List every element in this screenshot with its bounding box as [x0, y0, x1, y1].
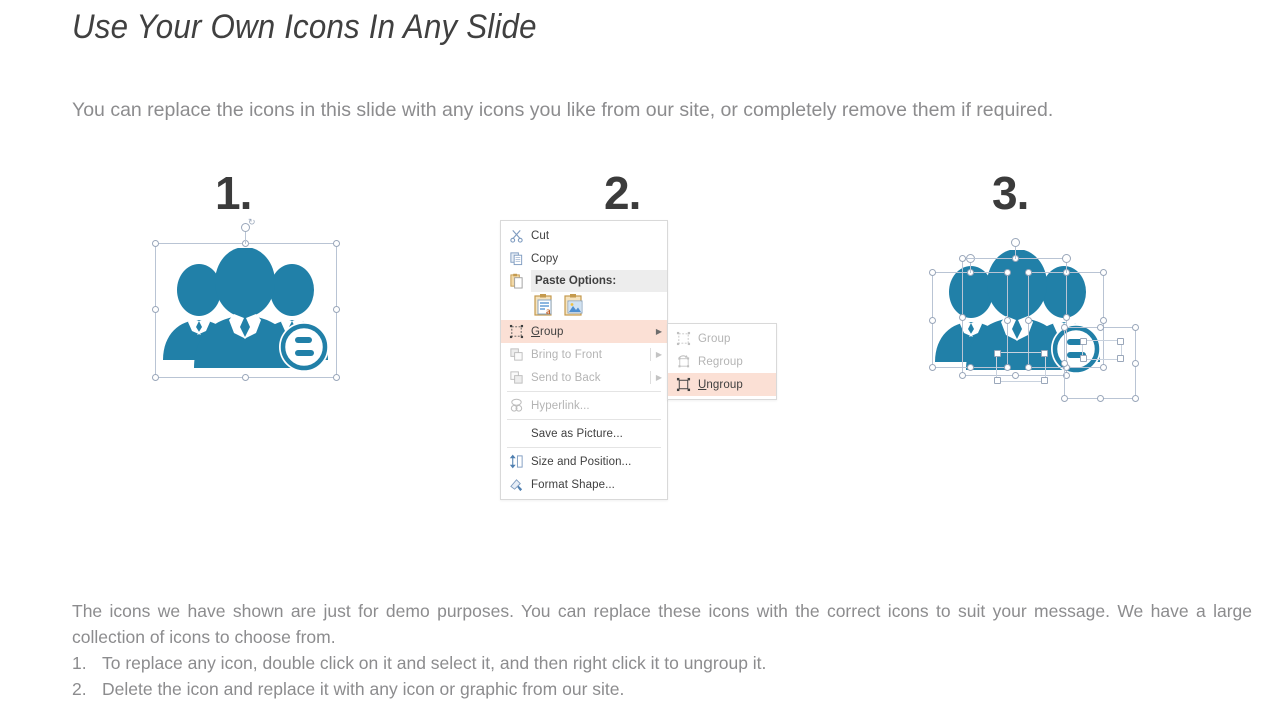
paste-icon: [501, 273, 531, 289]
menu-item-bring-to-front[interactable]: Bring to Front ▶: [501, 343, 667, 366]
selection-handle-ne[interactable]: [1041, 350, 1048, 357]
selection-handle-nw[interactable]: [994, 350, 1001, 357]
list-item-marker: 1.: [72, 650, 94, 676]
rotation-handle[interactable]: [1011, 238, 1020, 247]
format-shape-icon: [501, 477, 531, 492]
size-position-icon: [501, 454, 531, 469]
step-number-3: 3.: [992, 170, 1028, 216]
selection-frame-grouped[interactable]: ↻: [155, 243, 337, 378]
menu-header-paste-options: Paste Options:: [501, 270, 667, 292]
selection-handle-s[interactable]: [1097, 395, 1104, 402]
selection-handle-nw[interactable]: [1025, 269, 1032, 276]
menu-item-size-and-position-label: Size and Position...: [531, 456, 667, 468]
svg-text:a: a: [546, 306, 551, 316]
rotation-arrow-icon: ↻: [248, 218, 256, 227]
bring-to-front-icon: [501, 347, 531, 362]
selection-handle-se[interactable]: [1132, 395, 1139, 402]
submenu-item-ungroup[interactable]: Ungroup: [668, 373, 776, 396]
context-submenu-group[interactable]: Group Regroup: [667, 323, 777, 400]
menu-item-bring-to-front-label: Bring to Front: [531, 349, 651, 361]
menu-item-cut-label: Cut: [531, 230, 667, 242]
selection-handle-sw[interactable]: [1061, 395, 1068, 402]
menu-item-copy[interactable]: Copy: [501, 247, 667, 270]
menu-item-group[interactable]: GGrouproup ▶: [501, 320, 667, 343]
menu-item-copy-label: Copy: [531, 253, 667, 265]
selection-handle-nw[interactable]: [1061, 324, 1068, 331]
selection-frame-detail-center-collar[interactable]: [996, 352, 1046, 382]
selection-handle-w[interactable]: [929, 317, 936, 324]
menu-item-send-to-back[interactable]: Send to Back ▶: [501, 366, 667, 389]
selection-handle-sw[interactable]: [152, 374, 159, 381]
selection-handle-se[interactable]: [1117, 355, 1124, 362]
submenu-item-regroup[interactable]: Regroup: [668, 350, 776, 373]
menu-arrow-separator: [650, 371, 651, 384]
selection-handle-se[interactable]: [1041, 377, 1048, 384]
chevron-right-icon: ▶: [651, 373, 667, 382]
regroup-icon: [668, 354, 698, 369]
menu-separator: [507, 447, 661, 448]
menu-item-hyperlink-label: Hyperlink...: [531, 400, 667, 412]
selection-handle-e[interactable]: [1100, 317, 1107, 324]
selection-handle-ne[interactable]: [333, 240, 340, 247]
page-title: Use Your Own Icons In Any Slide: [72, 8, 537, 47]
copy-icon: [501, 251, 531, 266]
selection-handle-ne[interactable]: [1132, 324, 1139, 331]
selection-handle-nw[interactable]: [152, 240, 159, 247]
selection-handle-sw[interactable]: [1080, 355, 1087, 362]
submenu-item-group-label: Group: [698, 333, 776, 345]
selection-handle-sw[interactable]: [929, 364, 936, 371]
menu-item-send-to-back-label: Send to Back: [531, 372, 651, 384]
selection-frame-detail-badge-bar[interactable]: [1082, 340, 1122, 360]
menu-item-hyperlink[interactable]: Hyperlink...: [501, 394, 667, 417]
menu-separator: [507, 391, 661, 392]
menu-item-save-as-picture[interactable]: Save as Picture...: [501, 422, 667, 445]
bottom-notes: The icons we have shown are just for dem…: [72, 598, 1252, 702]
step-number-1: 1.: [215, 170, 251, 216]
paste-keep-text-icon[interactable]: a: [533, 293, 555, 320]
selection-handle-ne[interactable]: [1117, 338, 1124, 345]
menu-item-group-label: GGrouproup: [531, 326, 651, 338]
menu-item-cut[interactable]: Cut: [501, 224, 667, 247]
list-item-text: Delete the icon and replace it with any …: [102, 676, 624, 702]
menu-item-size-and-position[interactable]: Size and Position...: [501, 450, 667, 473]
selection-frame-badge[interactable]: [1064, 327, 1136, 399]
selection-handle-e[interactable]: [1132, 360, 1139, 367]
hyperlink-icon: [501, 398, 531, 413]
selection-handle-s[interactable]: [242, 374, 249, 381]
submenu-item-ungroup-label: Ungroup: [698, 379, 776, 391]
paste-options-row: a: [501, 292, 667, 320]
menu-item-save-as-picture-label: Save as Picture...: [531, 428, 667, 440]
chevron-right-icon: ▶: [651, 350, 667, 359]
rotation-stem: [1015, 247, 1016, 259]
group-icon: [501, 324, 531, 339]
rotation-stem: [1066, 262, 1067, 273]
menu-separator: [507, 419, 661, 420]
submenu-item-regroup-label: Regroup: [698, 356, 776, 368]
step-number-2: 2.: [604, 170, 640, 216]
context-menu[interactable]: Cut Copy: [500, 220, 668, 500]
selection-handle-sw[interactable]: [994, 377, 1001, 384]
selection-handle-sw[interactable]: [959, 372, 966, 379]
notes-paragraph: The icons we have shown are just for dem…: [72, 598, 1252, 650]
selection-handle-w[interactable]: [1025, 317, 1032, 324]
list-item-marker: 2.: [72, 676, 94, 702]
menu-arrow-separator: [650, 348, 651, 361]
list-item: 2. Delete the icon and replace it with a…: [72, 676, 1252, 702]
selection-handle-nw[interactable]: [1080, 338, 1087, 345]
send-to-back-icon: [501, 370, 531, 385]
intro-paragraph: You can replace the icons in this slide …: [72, 95, 1184, 125]
selection-handle-nw[interactable]: [959, 255, 966, 262]
selection-handle-nw[interactable]: [929, 269, 936, 276]
paste-picture-icon[interactable]: [563, 293, 585, 320]
selection-handle-w[interactable]: [152, 306, 159, 313]
list-item: 1. To replace any icon, double click on …: [72, 650, 1252, 676]
submenu-item-group[interactable]: Group: [668, 327, 776, 350]
slide-canvas: Use Your Own Icons In Any Slide You can …: [0, 0, 1280, 720]
list-item-text: To replace any icon, double click on it …: [102, 650, 766, 676]
selection-handle-e[interactable]: [333, 306, 340, 313]
rotation-stem: [245, 232, 246, 244]
chevron-right-icon: ▶: [651, 327, 667, 336]
ungroup-icon: [668, 377, 698, 392]
scissors-icon: [501, 228, 531, 243]
selection-handle-n[interactable]: [1097, 324, 1104, 331]
selection-handle-w[interactable]: [1061, 360, 1068, 367]
selection-handle-se[interactable]: [333, 374, 340, 381]
menu-header-paste-options-label: Paste Options:: [531, 270, 667, 292]
group-icon: [668, 331, 698, 346]
notes-list: 1. To replace any icon, double click on …: [72, 650, 1252, 702]
menu-item-format-shape-label: Format Shape...: [531, 479, 667, 491]
menu-item-format-shape[interactable]: Format Shape...: [501, 473, 667, 496]
selection-handle-w[interactable]: [959, 314, 966, 321]
selection-handle-ne[interactable]: [1100, 269, 1107, 276]
rotation-handle[interactable]: [1062, 254, 1071, 263]
